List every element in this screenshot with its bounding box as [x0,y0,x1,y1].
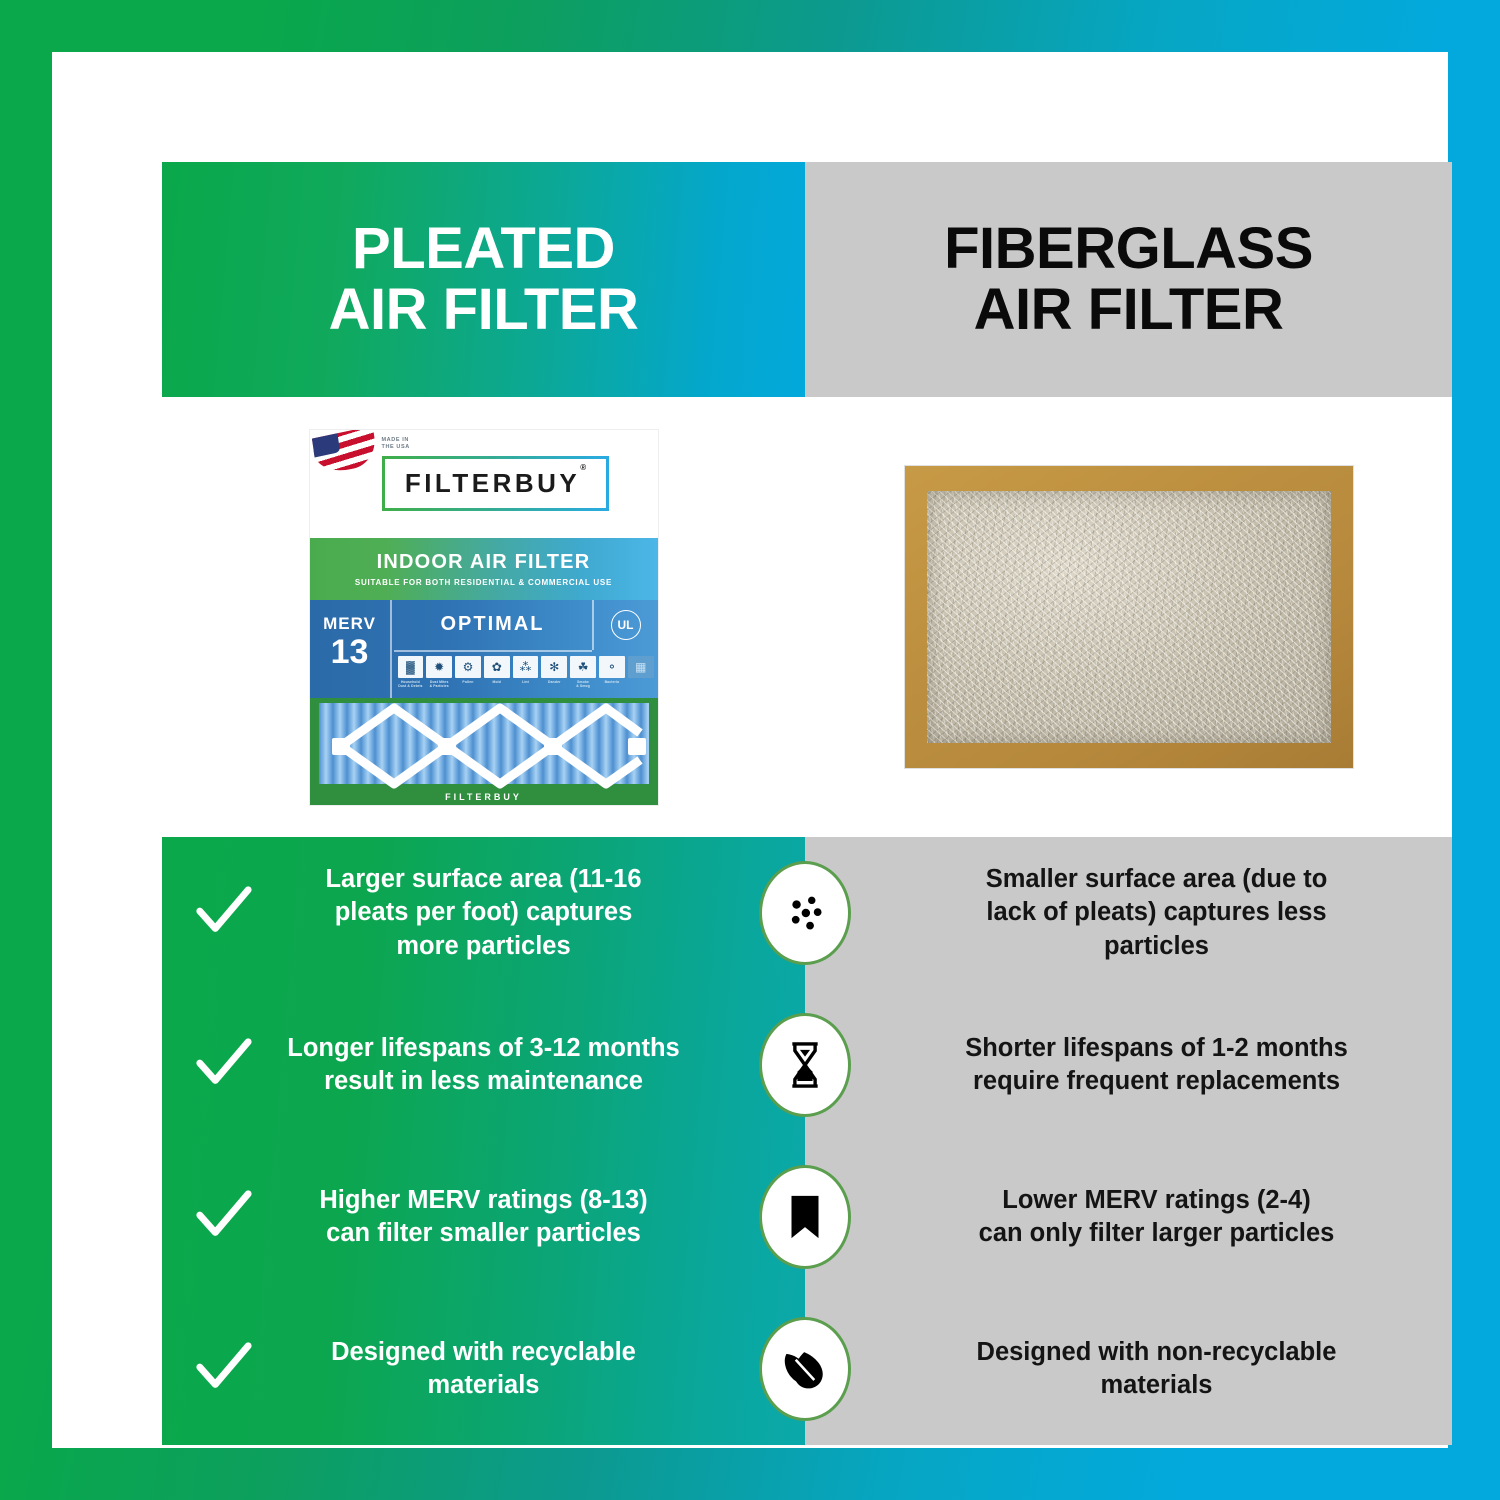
checkmark-icon [192,882,254,944]
capture-icon-label: Mold [492,680,501,684]
merv-value: 13 [331,635,369,669]
capture-icon-2: ✹Dust Mites & Particles [426,656,452,689]
pleated-media-photo: FILTERBUY [310,698,658,805]
filterbuy-logo: FILTERBUY® [382,456,609,511]
made-in-usa-label: MADE IN THE USA [382,437,410,453]
comparison-row-pleated: Larger surface area (11-16 pleats per fo… [162,837,805,989]
package-band: INDOOR AIR FILTER SUITABLE FOR BOTH RESI… [310,538,658,600]
package-spec-strip: MERV 13 OPTIMAL UL ▓Household Dust & Deb… [310,600,658,698]
merv-badge: MERV 13 [310,600,392,698]
particles-icon [778,886,832,940]
package-band-subtitle: SUITABLE FOR BOTH RESIDENTIAL & COMMERCI… [355,578,612,587]
capture-icon-glyph: ⚙ [455,656,481,678]
registered-trademark-icon: ® [580,463,586,472]
leaf-icon-badge [759,1317,851,1421]
white-mat: PLEATED AIR FILTER FIBERGLASS AIR FILTER… [52,52,1448,1448]
bookmark-icon [778,1190,832,1244]
hourglass-icon [778,1038,832,1092]
header-fiberglass-title: FIBERGLASS AIR FILTER [944,219,1313,341]
comparison-row: Designed with recyclable materialsDesign… [162,1293,1452,1445]
capture-icon-label: Pollen [462,680,473,684]
fiberglass-filter-photo [905,466,1353,768]
capture-icon-glyph: ✻ [541,656,567,678]
header-fiberglass-panel: FIBERGLASS AIR FILTER [805,162,1452,397]
header-pleated-panel: PLEATED AIR FILTER [162,162,805,397]
usa-flag-icon [311,430,377,476]
capture-icon-label: Dust Mites & Particles [430,680,449,689]
bookmark-icon-badge [759,1165,851,1269]
comparison-rows: Larger surface area (11-16 pleats per fo… [162,837,1452,1445]
capture-icon-6: ✻Dander [541,656,567,684]
capture-icon-glyph: ⚬ [599,656,625,678]
capture-icon-5: ⁂Lint [513,656,539,684]
package-header: MADE IN THE USA FILTERBUY® [310,430,658,538]
ul-certification: UL [592,600,658,650]
pleated-benefit-text: Higher MERV ratings (8-13) can filter sm… [258,1184,709,1250]
infographic-stage: PLEATED AIR FILTER FIBERGLASS AIR FILTER… [162,162,1452,1445]
comparison-row-fiberglass: Smaller surface area (due to lack of ple… [805,837,1452,989]
capture-icon-9: ▦ [628,656,654,680]
comparison-row-fiberglass: Lower MERV ratings (2-4) can only filter… [805,1141,1452,1293]
capture-icon-glyph: ✹ [426,656,452,678]
comparison-row-pleated: Designed with recyclable materials [162,1293,805,1445]
capture-icon-4: ✿Mold [484,656,510,684]
checkmark-icon [192,1186,254,1248]
fiberglass-product-cell [805,397,1452,837]
tier-label: OPTIMAL [394,600,592,652]
pleated-benefit-text: Larger surface area (11-16 pleats per fo… [258,863,709,962]
capture-icon-8: ⚬Bacteria [599,656,625,684]
product-image-row: MADE IN THE USA FILTERBUY® INDOOR AIR FI… [162,397,1452,837]
capture-icon-label: Smoke & Smog [576,680,590,689]
fiberglass-drawback-text: Designed with non-recyclable materials [977,1336,1337,1402]
hourglass-icon-badge [759,1013,851,1117]
pleated-product-cell: MADE IN THE USA FILTERBUY® INDOOR AIR FI… [162,397,805,837]
comparison-row: Higher MERV ratings (8-13) can filter sm… [162,1141,1452,1293]
capture-icon-label: Lint [522,680,529,684]
capture-icon-glyph: ✿ [484,656,510,678]
comparison-row-pleated: Longer lifespans of 3-12 months result i… [162,989,805,1141]
header-pleated-title: PLEATED AIR FILTER [329,219,639,341]
fiberglass-drawback-text: Shorter lifespans of 1-2 months require … [965,1032,1348,1098]
capture-icon-glyph: ☘ [570,656,596,678]
comparison-row-fiberglass: Shorter lifespans of 1-2 months require … [805,989,1452,1141]
capture-icon-glyph: ▦ [628,656,654,678]
fiberglass-mesh-texture [927,491,1331,743]
comparison-header: PLEATED AIR FILTER FIBERGLASS AIR FILTER [162,162,1452,397]
pleated-benefit-text: Designed with recyclable materials [258,1336,709,1402]
capture-icon-glyph: ▓ [398,656,424,678]
filterbuy-logo-text: FILTERBUY® [405,468,586,499]
support-grid-icon [310,698,658,805]
package-band-title: INDOOR AIR FILTER [377,551,591,574]
particles-icon-badge [759,861,851,965]
capture-icon-label: Bacteria [605,680,620,684]
fiberglass-drawback-text: Lower MERV ratings (2-4) can only filter… [979,1184,1335,1250]
capture-icon-7: ☘Smoke & Smog [570,656,596,689]
checkmark-icon [192,1338,254,1400]
comparison-row-pleated: Higher MERV ratings (8-13) can filter sm… [162,1141,805,1293]
fiberglass-drawback-text: Smaller surface area (due to lack of ple… [986,863,1328,962]
capture-icon-strip: ▓Household Dust & Debris✹Dust Mites & Pa… [394,652,658,698]
capture-icon-glyph: ⁂ [513,656,539,678]
leaf-icon [778,1342,832,1396]
capture-icon-label: Household Dust & Debris [398,680,422,689]
checkmark-icon [192,1034,254,1096]
comparison-row: Longer lifespans of 3-12 months result i… [162,989,1452,1141]
capture-icon-label: Dander [548,680,561,684]
capture-icon-3: ⚙Pollen [455,656,481,684]
ul-mark-icon: UL [611,610,641,640]
comparison-row-fiberglass: Designed with non-recyclable materials [805,1293,1452,1445]
comparison-row: Larger surface area (11-16 pleats per fo… [162,837,1452,989]
outer-gradient-frame: PLEATED AIR FILTER FIBERGLASS AIR FILTER… [0,0,1500,1500]
pleated-benefit-text: Longer lifespans of 3-12 months result i… [258,1032,709,1098]
comparison-section: Larger surface area (11-16 pleats per fo… [162,837,1452,1445]
capture-icon-1: ▓Household Dust & Debris [398,656,424,689]
merv-label: MERV [323,614,376,634]
package-footer-brand: FILTERBUY [310,792,658,802]
filterbuy-package: MADE IN THE USA FILTERBUY® INDOOR AIR FI… [310,430,658,805]
